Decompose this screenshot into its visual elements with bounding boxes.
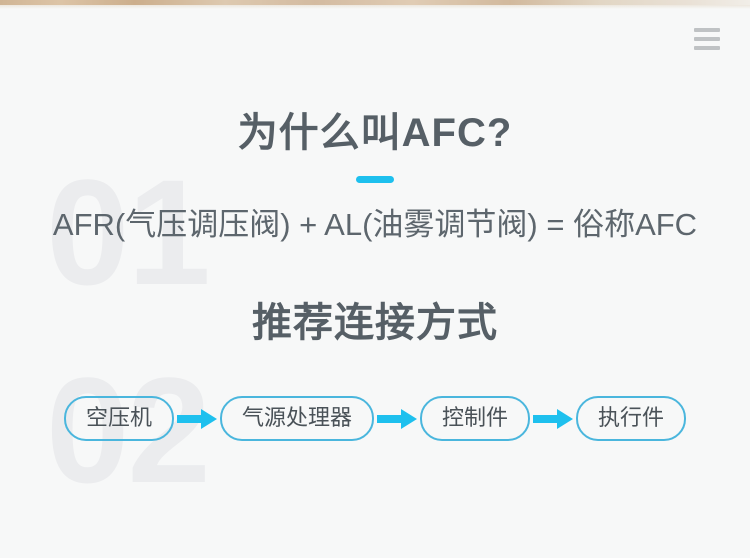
flow-step-2[interactable]: 气源处理器 (220, 396, 374, 441)
hamburger-bar-3 (694, 46, 720, 50)
hamburger-menu-icon[interactable] (694, 28, 720, 50)
flow-step-3[interactable]: 控制件 (420, 396, 530, 441)
section-subtitle: AFR(气压调压阀) + AL(油雾调节阀) = 俗称AFC (0, 205, 750, 245)
arrow-right-icon (374, 408, 420, 430)
flow-step-1[interactable]: 空压机 (64, 396, 174, 441)
arrow-right-icon (530, 408, 576, 430)
hamburger-bar-2 (694, 37, 720, 41)
arrow-right-icon (174, 408, 220, 430)
section-title: 推荐连接方式 (0, 300, 750, 346)
section-title: 为什么叫AFC? (0, 110, 750, 156)
flow-step-4[interactable]: 执行件 (576, 396, 686, 441)
title-underline-rule (356, 176, 394, 183)
section-why-afc: 01 为什么叫AFC? AFR(气压调压阀) + AL(油雾调节阀) = 俗称A… (0, 110, 750, 285)
connection-flow-diagram: 空压机 气源处理器 控制件 执行件 (0, 396, 750, 441)
page-header (0, 0, 750, 80)
section-recommended-connection: 02 推荐连接方式 空压机 气源处理器 控制件 执行件 (0, 300, 750, 500)
hamburger-bar-1 (694, 28, 720, 32)
